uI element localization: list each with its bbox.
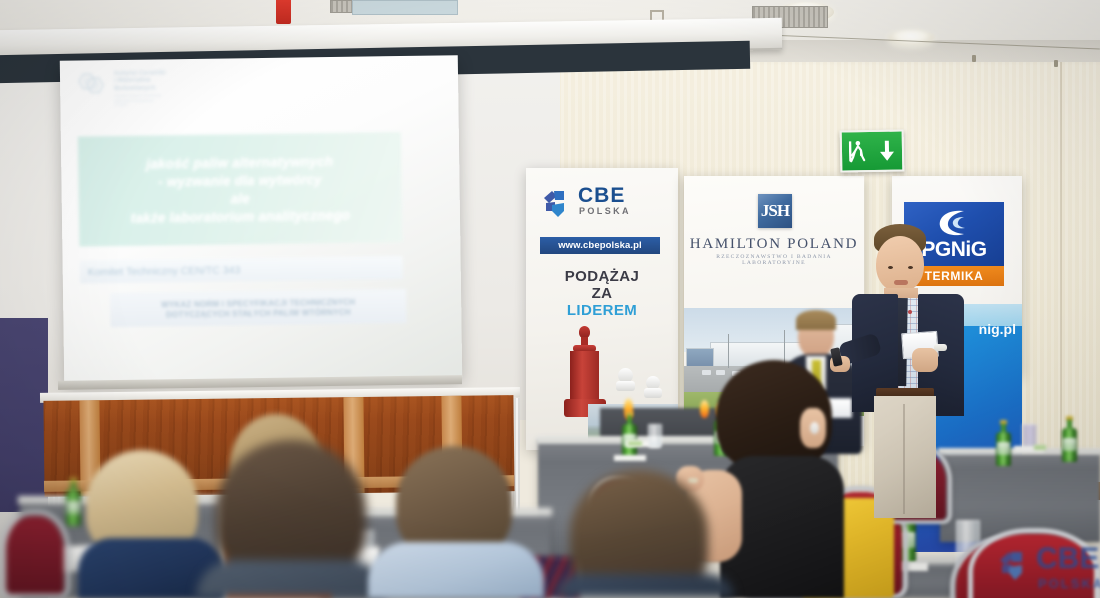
screen-mount-bracket (276, 0, 291, 24)
cbe-wordmark: CBE (1036, 544, 1099, 574)
slide-title-line-2: - wyzwanie dla wytwórcy (158, 172, 322, 189)
hexagon-logo-icon (74, 72, 108, 98)
ceiling-panel (352, 0, 458, 15)
chess-pawn-base (616, 381, 635, 391)
cbe-slogan: PODĄŻAJ ZA LIDEREM (526, 268, 678, 319)
wire-clip (972, 55, 976, 62)
drinking-glass (648, 424, 662, 448)
cbe-diamond-icon (542, 189, 574, 219)
cbe-polska-logo-overlay: CBE POLSKA (996, 540, 1100, 598)
shoulder (556, 574, 734, 598)
conference-photo: Instytut Ceramiki i Materiałów Budowlany… (0, 0, 1100, 598)
bottle-label (997, 442, 1010, 455)
cbe-slogan-line-3: LIDEREM (526, 302, 678, 319)
trouser-crease (903, 404, 905, 514)
coaster-green (628, 441, 642, 446)
logo-subline-3: w Opolu (114, 103, 161, 108)
coaster-green (1034, 445, 1046, 450)
cbe-subtitle: POLSKA (1038, 576, 1100, 591)
right-hand (912, 348, 938, 372)
bottle-body (1062, 428, 1077, 462)
bottle-coaster (614, 455, 646, 461)
water-bottle (996, 420, 1011, 466)
cbe-subtitle: POLSKA (579, 206, 631, 216)
slide-footer: WYKAZ NORM I SPECYFIKACJI TECHNICZNYCH D… (110, 289, 406, 327)
shirt-cuff (934, 344, 947, 351)
instytut-ceramiki-logo: Instytut Ceramiki i Materiałów Budowlany… (74, 69, 195, 113)
jsh-monogram: JSH (758, 194, 792, 228)
chair-upholstery (6, 516, 64, 594)
lapel-pin (908, 310, 912, 314)
ceiling-light (888, 30, 934, 45)
chess-body (570, 351, 599, 401)
water-bottle (622, 412, 637, 458)
slide-content: Instytut Ceramiki i Materiałów Budowlany… (60, 55, 462, 383)
logo-subtext: Oddział Inżynierii Procesowej Materiałów… (114, 93, 161, 107)
hamilton-wordmark: HAMILTON POLAND (684, 236, 864, 253)
hair (796, 310, 836, 330)
audience-man-blue-shirt (368, 446, 544, 598)
hamilton-tagline: RZECZOZNAWSTWO I BADANIA LABORATORYJNE (684, 254, 864, 266)
audience-person-foreground (556, 470, 734, 598)
wire-clip (1054, 60, 1058, 67)
cbe-wordmark: CBE (578, 185, 625, 206)
slide-footer-line-2: DOTYCZĄCYCH STAŁYCH PALIW WTÓRNYCH (166, 307, 351, 319)
water-bottle (1062, 416, 1077, 462)
audience-man-short-hair (196, 440, 386, 598)
cbe-logo: CBE POLSKA (542, 186, 642, 224)
mouth (894, 280, 908, 285)
earring (810, 422, 819, 434)
banquet-chair (0, 510, 70, 598)
shirt (196, 560, 386, 598)
slide-title-line-3: ale (230, 191, 250, 206)
slide-title-line-1: jakość paliw alternatywnych (146, 153, 333, 171)
cbe-diamond-icon (998, 550, 1032, 582)
cbe-slogan-line-1: PODĄŻAJ (526, 268, 678, 285)
cbe-slogan-line-2: ZA (526, 285, 678, 302)
eye (888, 266, 893, 269)
bottle-label (1063, 438, 1076, 451)
slide-committee: Komitet Techniczny CEN/TC 343 (80, 256, 403, 284)
logo-line-3: Budowlanych (114, 84, 166, 92)
light-blue-shirt (368, 542, 544, 598)
chess-pawn-base (644, 388, 662, 398)
slide-title-text: jakość paliw alternatywnych - wyzwanie d… (78, 132, 403, 246)
emergency-exit-sign (840, 129, 905, 172)
eye (908, 266, 913, 269)
slide-title-line-4: także laboratorium analitycznego (131, 207, 351, 225)
trousers (874, 396, 936, 518)
cbe-url: www.cbepolska.pl (540, 237, 660, 254)
logo-text: Instytut Ceramiki i Materiałów Budowlany… (114, 69, 166, 92)
running-person-icon (849, 140, 866, 162)
down-arrow-icon (879, 140, 895, 162)
bottle-body (996, 432, 1011, 466)
projection-screen: Instytut Ceramiki i Materiałów Budowlany… (60, 55, 462, 383)
